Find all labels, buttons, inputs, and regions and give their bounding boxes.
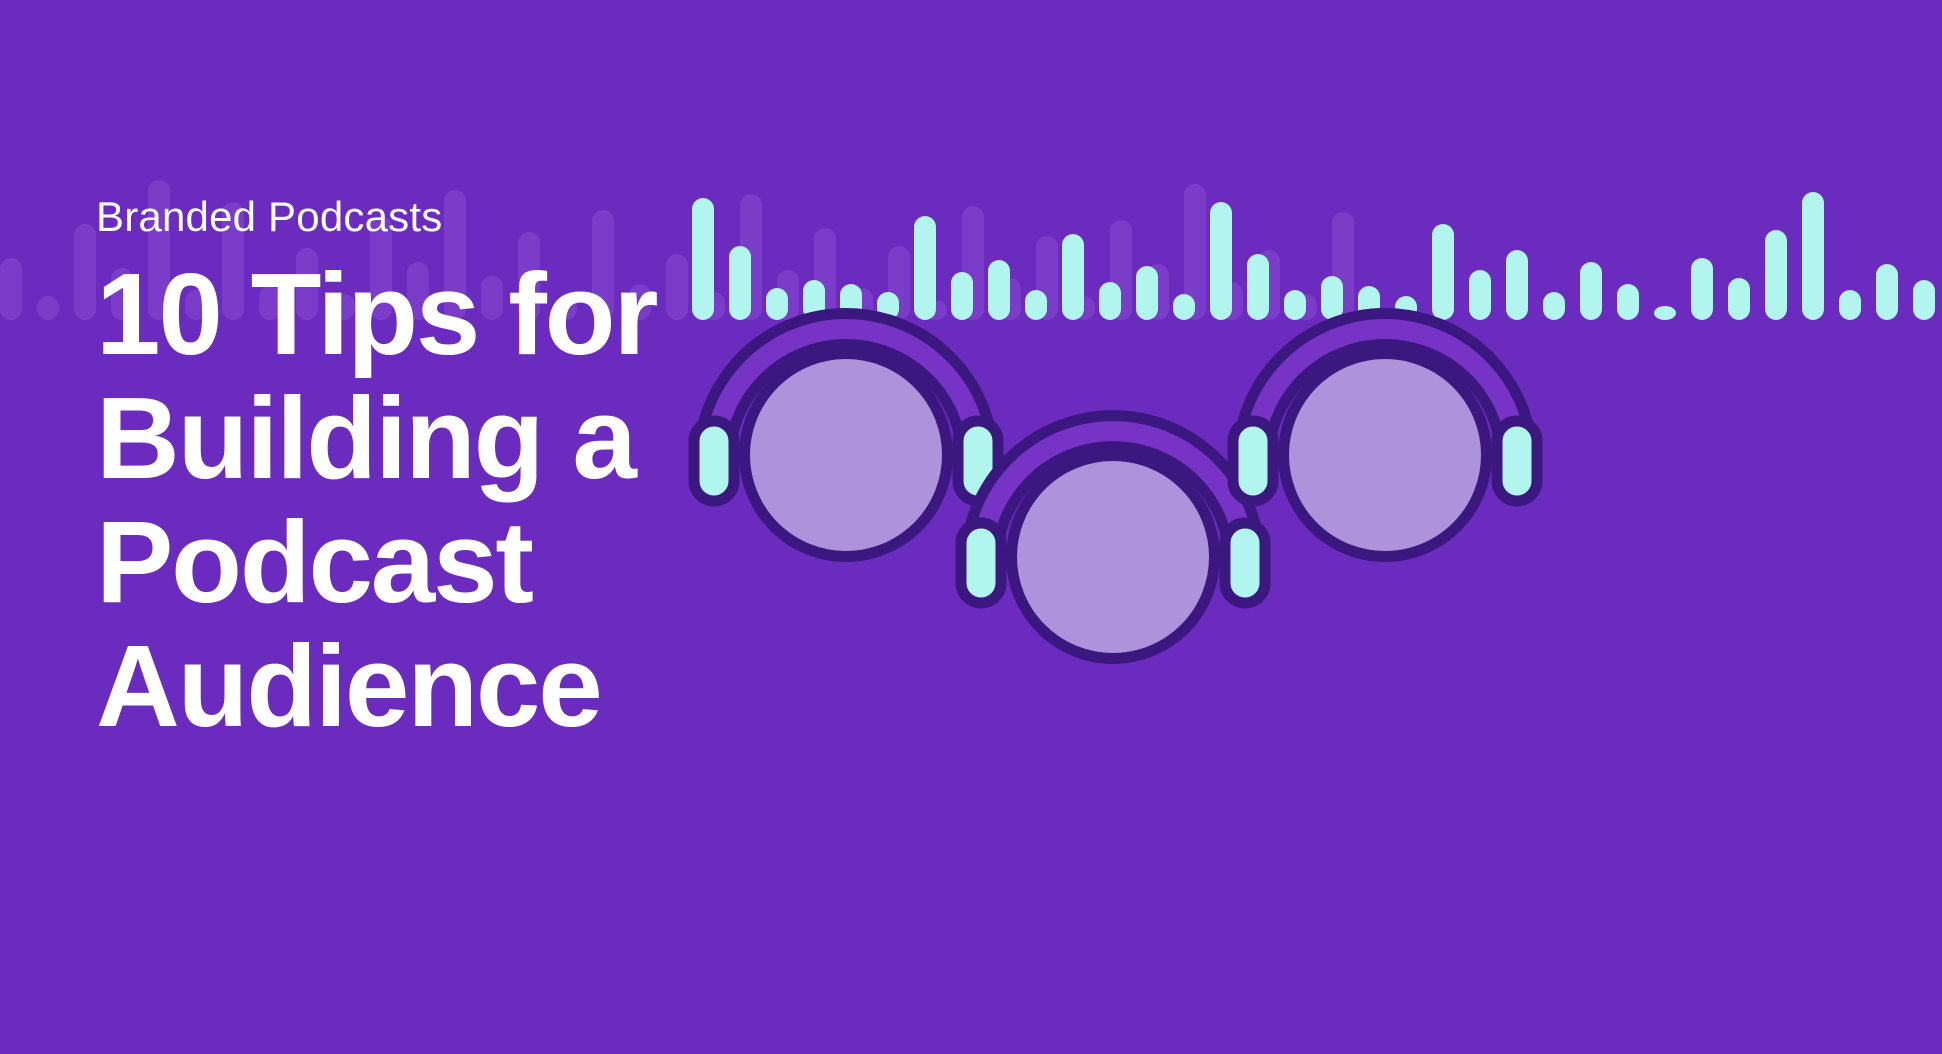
earcup-right <box>1225 523 1265 603</box>
waveform-bright-bar <box>1543 292 1565 320</box>
hero-text-block: Branded Podcasts 10 Tips for Building a … <box>96 196 796 748</box>
waveform-faint-bar <box>999 278 1021 320</box>
waveform-faint-bar <box>814 228 836 320</box>
waveform-faint-bar <box>1295 294 1317 320</box>
waveform-bright-bar <box>1802 192 1824 320</box>
page-title: 10 Tips for Building a Podcast Audience <box>96 252 696 748</box>
waveform-faint-bar <box>962 206 984 320</box>
waveform-faint-bar <box>74 224 96 320</box>
earcup-right <box>1497 421 1537 501</box>
waveform-bright-bar <box>1136 266 1158 320</box>
earcup-right <box>958 421 998 501</box>
headband-fill <box>981 431 1245 563</box>
waveform-bright-bar <box>1432 224 1454 320</box>
waveform-faint-bar <box>888 246 910 320</box>
waveform-bright-bar <box>1654 306 1676 320</box>
waveform-bright-bar <box>1173 294 1195 320</box>
headline-line: Audience <box>96 621 601 751</box>
headphone-right <box>1233 329 1537 557</box>
waveform-faint-bar <box>851 288 873 320</box>
waveform-faint-bar <box>1221 282 1243 320</box>
headband-outline <box>981 431 1245 563</box>
waveform-bright-bar <box>1099 282 1121 320</box>
headline-line: Building a <box>96 373 635 503</box>
hero-banner: Branded Podcasts 10 Tips for Building a … <box>0 0 1942 1054</box>
waveform-bright-bar <box>1247 254 1269 320</box>
waveform-bright-bar <box>1358 286 1380 320</box>
waveform-bright-bar <box>1839 290 1861 320</box>
waveform-bright-bar <box>1617 284 1639 320</box>
waveform-bright-bar <box>803 280 825 320</box>
waveform-bright-bar <box>1321 276 1343 320</box>
waveform-faint-bar <box>1110 220 1132 320</box>
waveform-bright-bar <box>1506 250 1528 320</box>
waveform-bright-bar <box>1062 234 1084 320</box>
waveform-faint-bar <box>1332 212 1354 320</box>
waveform-faint-bar <box>925 300 947 320</box>
waveform-faint-bar <box>37 296 59 320</box>
waveform-bright-bar <box>1580 262 1602 320</box>
waveform-faint-bar <box>1036 236 1058 320</box>
headband-outline <box>1253 329 1517 461</box>
waveform-bright-bar <box>1469 270 1491 320</box>
headline-line: Podcast <box>96 497 532 627</box>
waveform-bright-bar <box>840 284 862 320</box>
headphone-center <box>961 431 1265 658</box>
eyebrow-label: Branded Podcasts <box>96 196 796 238</box>
waveform-bright-bar <box>1284 290 1306 320</box>
waveform-bright-bar <box>1691 258 1713 320</box>
waveform-bright-bar <box>1025 290 1047 320</box>
waveform-bright-bar <box>1210 202 1232 320</box>
waveform-faint-bar <box>1184 184 1206 320</box>
waveform-bright-bar <box>988 260 1010 320</box>
earcup-left <box>961 523 1001 603</box>
waveform-bright-bar <box>951 272 973 320</box>
waveform-bright-bar <box>1395 296 1417 320</box>
waveform-bright-bar <box>1728 278 1750 320</box>
waveform-faint-bar <box>1073 296 1095 320</box>
waveform-bright-bar <box>914 216 936 320</box>
headband-fill <box>1253 329 1517 461</box>
head-circle <box>1284 354 1487 557</box>
waveform-faint-bar <box>1147 264 1169 320</box>
headline-line: 10 Tips for <box>96 249 656 379</box>
waveform-bright-bar <box>1876 264 1898 320</box>
waveform-bright-bar <box>1913 280 1935 320</box>
waveform-bright-bar <box>1765 230 1787 320</box>
waveform-bright-bar <box>877 292 899 320</box>
waveform-faint-bar <box>1258 250 1280 320</box>
earcup-left <box>1233 421 1273 501</box>
head-circle <box>1012 456 1215 659</box>
waveform-faint-bar <box>0 258 22 320</box>
